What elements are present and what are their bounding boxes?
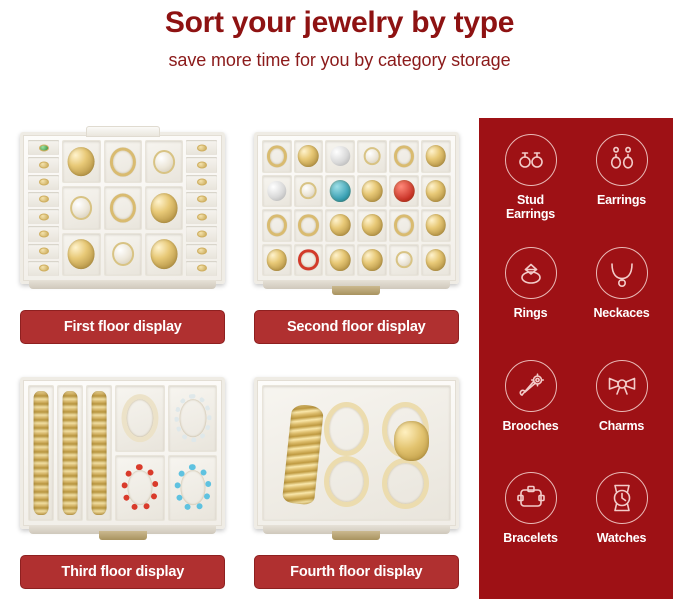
- category-icon-circle: [596, 472, 648, 524]
- compartment: [325, 209, 355, 242]
- ring-slot-column-left: [28, 140, 59, 276]
- ring-slot: [28, 175, 59, 190]
- compartment: [104, 140, 142, 183]
- tray-handle-top: [86, 126, 160, 137]
- ring-item: [197, 161, 207, 168]
- compartment: [325, 140, 355, 173]
- bracelet-item: [121, 394, 158, 442]
- category-charms[interactable]: Charms: [576, 360, 667, 433]
- tray-handle: [332, 531, 380, 540]
- ring-slot: [186, 261, 217, 276]
- ring-slot: [28, 261, 59, 276]
- jewelry-item: [112, 242, 134, 266]
- stud-earrings-icon: [514, 143, 548, 177]
- bangle-item: [324, 402, 369, 456]
- category-stud-earrings[interactable]: Stud Earrings: [485, 134, 576, 221]
- necklace-icon: [605, 256, 639, 290]
- jewelry-tray: [254, 132, 459, 284]
- jewelry-item: [426, 249, 447, 271]
- compartment: [104, 233, 142, 276]
- product-card-fourth-floor: Fourth floor display: [240, 363, 474, 608]
- watch-icon: [605, 481, 639, 515]
- ring-slot: [28, 209, 59, 224]
- ring-item: [39, 265, 49, 272]
- bracelet-item: [121, 464, 158, 512]
- compartment: [389, 140, 419, 173]
- jewelry-item: [362, 214, 383, 236]
- compartment: [145, 140, 183, 183]
- category-label: Charms: [599, 419, 644, 433]
- category-earrings[interactable]: Earrings: [576, 134, 667, 207]
- category-label: Stud Earrings: [506, 193, 555, 221]
- compartment: [357, 209, 387, 242]
- category-brooches[interactable]: Brooches: [485, 360, 576, 433]
- category-label: Neckaces: [593, 306, 649, 320]
- category-watches[interactable]: Watches: [576, 472, 667, 545]
- jewelry-item: [266, 249, 287, 271]
- header: Sort your jewelry by type save more time…: [0, 0, 679, 71]
- tray-photo-third-floor: [14, 363, 232, 543]
- ring-slot-column-right: [186, 140, 217, 276]
- necklace-chain-item: [34, 391, 49, 514]
- category-icon-circle: [596, 134, 648, 186]
- jewelry-item: [71, 196, 93, 220]
- ring-item: [39, 144, 49, 151]
- ring-slot: [186, 192, 217, 207]
- jewelry-item: [110, 194, 136, 223]
- bangle-item: [382, 458, 429, 509]
- compartment: [62, 186, 100, 229]
- necklace-chain-item: [92, 391, 107, 514]
- compartment: [294, 175, 324, 208]
- jewelry-item: [331, 146, 350, 166]
- ring-slot: [186, 209, 217, 224]
- compartment: [421, 209, 451, 242]
- jewelry-item: [151, 193, 178, 223]
- jewelry-item: [396, 251, 413, 269]
- ring-item: [39, 196, 49, 203]
- drop-earrings-icon: [605, 143, 639, 177]
- jewelry-item: [153, 150, 175, 174]
- compartment: [115, 455, 165, 522]
- jewelry-item: [330, 249, 351, 271]
- jewelry-item: [426, 214, 447, 236]
- compartment: [389, 175, 419, 208]
- category-icon-circle: [596, 247, 648, 299]
- category-label: Brooches: [502, 419, 558, 433]
- chain-slot: [86, 385, 112, 521]
- ring-slot: [28, 192, 59, 207]
- ring-slot: [28, 140, 59, 155]
- ring-slot: [28, 226, 59, 241]
- compartment: [104, 186, 142, 229]
- compartment: [62, 233, 100, 276]
- ring-item: [197, 196, 207, 203]
- jewelry-item: [110, 147, 136, 176]
- compartment: [389, 244, 419, 277]
- jewelry-item: [394, 180, 415, 202]
- jewelry-item: [426, 145, 447, 167]
- category-bracelets[interactable]: Bracelets: [485, 472, 576, 545]
- product-photo-grid: First floor display: [0, 118, 479, 609]
- tray-lip: [29, 280, 216, 289]
- jewelry-item: [300, 182, 317, 200]
- category-icon-circle: [505, 472, 557, 524]
- compartment: [325, 175, 355, 208]
- compartment: [262, 209, 292, 242]
- compartment: [62, 140, 100, 183]
- ring-icon: [514, 256, 548, 290]
- compartment: [145, 186, 183, 229]
- category-icon-circle: [505, 360, 557, 412]
- tray-photo-second-floor: [248, 118, 466, 298]
- compartment: [294, 244, 324, 277]
- jewelry-item: [267, 146, 287, 167]
- category-label: Earrings: [597, 193, 646, 207]
- jewelry-item: [426, 180, 447, 202]
- compartment: [168, 455, 218, 522]
- jewelry-item: [298, 249, 318, 270]
- category-icon-circle: [596, 360, 648, 412]
- chain-slot: [28, 385, 54, 521]
- jewelry-tray: [254, 377, 459, 529]
- bow-charm-icon: [605, 369, 639, 403]
- jewelry-item: [364, 147, 381, 165]
- brooch-pin-icon: [514, 369, 548, 403]
- compartment: [294, 140, 324, 173]
- compartment: [421, 175, 451, 208]
- jewelry-item: [362, 249, 383, 271]
- card-caption: Fourth floor display: [254, 555, 459, 589]
- ring-item: [39, 213, 49, 220]
- compartment: [262, 244, 292, 277]
- necklace-chain-item: [282, 403, 324, 505]
- product-card-first-floor: First floor display: [6, 118, 240, 363]
- compartment-grid-6x4: [262, 140, 451, 276]
- gold-cluster-item: [394, 421, 430, 461]
- compartment: [115, 385, 165, 452]
- compartment: [294, 209, 324, 242]
- jewelry-item: [151, 239, 178, 269]
- compartment: [262, 140, 292, 173]
- ring-item: [197, 213, 207, 220]
- category-necklaces[interactable]: Neckaces: [576, 247, 667, 320]
- card-caption: Third floor display: [20, 555, 225, 589]
- jewelry-item: [298, 145, 319, 167]
- bracelet-item: [174, 464, 211, 512]
- jewelry-item: [362, 180, 383, 202]
- tray-handle: [99, 531, 147, 540]
- ring-item: [197, 179, 207, 186]
- chain-slot: [57, 385, 83, 521]
- ring-slot: [186, 244, 217, 259]
- jewelry-item: [68, 147, 95, 177]
- necklace-chain-item: [63, 391, 78, 514]
- category-icon-circle: [505, 134, 557, 186]
- category-label: Bracelets: [503, 531, 558, 545]
- ring-item: [39, 248, 49, 255]
- bracelet-grid-2x2: [115, 385, 217, 521]
- ring-slot: [186, 157, 217, 172]
- page-title: Sort your jewelry by type: [0, 6, 679, 41]
- ring-slot: [28, 157, 59, 172]
- jewelry-item: [267, 215, 287, 236]
- ring-item: [39, 230, 49, 237]
- ring-item: [197, 230, 207, 237]
- compartment: [357, 175, 387, 208]
- category-label: Rings: [514, 306, 548, 320]
- compartment: [421, 244, 451, 277]
- ring-item: [197, 144, 207, 151]
- compartment: [145, 233, 183, 276]
- compartment-grid-3x3: [62, 140, 183, 276]
- tray-photo-first-floor: [14, 118, 232, 298]
- category-icon-circle: [505, 247, 557, 299]
- ring-item: [39, 179, 49, 186]
- card-caption: Second floor display: [254, 310, 459, 344]
- category-label: Watches: [597, 531, 647, 545]
- jewelry-tray: [20, 132, 225, 284]
- jewelry-item-group: [263, 386, 450, 520]
- compartment: [357, 140, 387, 173]
- compartment: [389, 209, 419, 242]
- compartment: [357, 244, 387, 277]
- ring-slot: [186, 140, 217, 155]
- jewelry-item: [330, 180, 351, 202]
- main-content: First floor display: [0, 118, 679, 609]
- compartment: [325, 244, 355, 277]
- bangle-item: [324, 456, 369, 507]
- open-compartment: [262, 385, 451, 521]
- ring-item: [39, 161, 49, 168]
- ring-item: [197, 265, 207, 272]
- card-caption: First floor display: [20, 310, 225, 344]
- jewelry-item: [68, 239, 95, 269]
- bracelet-icon: [514, 481, 548, 515]
- jewelry-item: [298, 215, 318, 236]
- ring-item: [197, 248, 207, 255]
- ring-slot: [28, 244, 59, 259]
- page-subtitle: save more time for you by category stora…: [0, 50, 679, 71]
- ring-slot: [186, 175, 217, 190]
- compartment: [421, 140, 451, 173]
- jewelry-item: [267, 181, 286, 201]
- jewelry-item: [330, 214, 351, 236]
- bracelet-item: [174, 394, 211, 442]
- jewelry-item: [394, 215, 414, 236]
- ring-slot: [186, 226, 217, 241]
- category-panel: Stud Earrings Earrings Ri: [479, 118, 673, 599]
- category-rings[interactable]: Rings: [485, 247, 576, 320]
- tray-handle: [332, 286, 380, 295]
- jewelry-tray: [20, 377, 225, 529]
- product-card-second-floor: Second floor display: [240, 118, 474, 363]
- compartment: [262, 175, 292, 208]
- product-card-third-floor: Third floor display: [6, 363, 240, 608]
- compartment: [168, 385, 218, 452]
- chain-slot-group: [28, 385, 112, 521]
- tray-photo-fourth-floor: [248, 363, 466, 543]
- jewelry-item: [394, 146, 414, 167]
